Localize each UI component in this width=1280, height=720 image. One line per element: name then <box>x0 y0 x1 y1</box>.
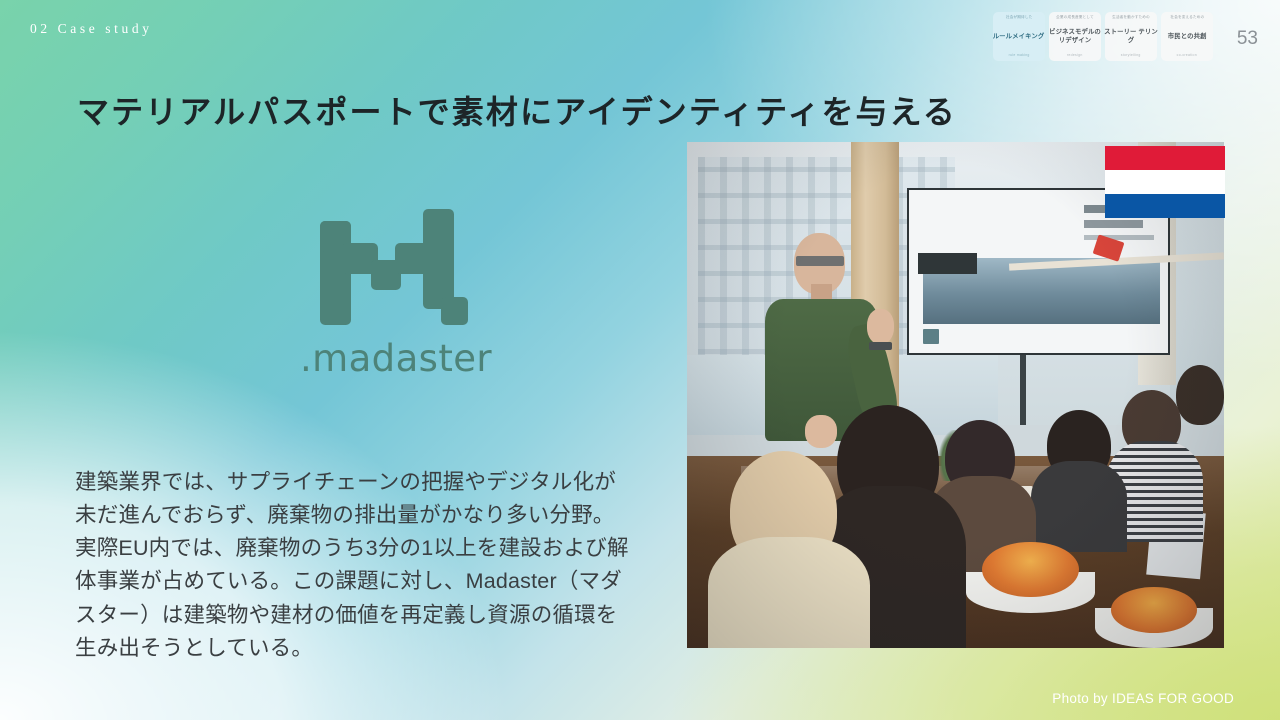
section-eyebrow: 02 Case study <box>30 21 153 37</box>
section-nav-chips: 社会が期待した ルールメイキング rule making 企業の成長産業として … <box>993 12 1213 61</box>
nav-chip-redesign[interactable]: 企業の成長産業として ビジネスモデルの リデザイン redesign <box>1049 12 1101 61</box>
nav-chip-english: storytelling <box>1121 54 1141 58</box>
nav-chip-subtitle: 生活者を動かすための <box>1112 16 1150 21</box>
body-paragraph: 建築業界では、サプライチェーンの把握やデジタル化が未だ進んでおらず、廃棄物の排出… <box>75 466 630 666</box>
nav-chip-title: ビジネスモデルの リデザイン <box>1046 29 1104 46</box>
nav-chip-english: co-creation <box>1177 54 1197 58</box>
nav-chip-rule-making[interactable]: 社会が期待した ルールメイキング rule making <box>993 12 1045 61</box>
nav-chip-title: 市民との共創 <box>1168 33 1207 41</box>
page-number: 53 <box>1237 28 1258 50</box>
nav-chip-english: redesign <box>1067 54 1083 58</box>
nav-chip-subtitle: 社会が期待した <box>1006 16 1032 21</box>
page-title: マテリアルパスポートで素材にアイデンティティを与える <box>77 87 957 133</box>
photo-credit: Photo by IDEAS FOR GOOD <box>1052 691 1234 706</box>
madaster-m-mark-icon <box>312 205 468 325</box>
madaster-logo: .madaster <box>300 205 480 380</box>
nav-chip-subtitle: 社会を変えるための <box>1170 16 1204 21</box>
nav-chip-title: ルールメイキング <box>993 33 1045 41</box>
madaster-wordmark: .madaster <box>300 337 480 380</box>
netherlands-flag-icon <box>1105 146 1225 218</box>
nav-chip-storytelling[interactable]: 生活者を動かすための ストーリー テリング storytelling <box>1105 12 1157 61</box>
nav-chip-subtitle: 企業の成長産業として <box>1056 16 1094 21</box>
slide-canvas: 02 Case study 社会が期待した ルールメイキング rule maki… <box>0 0 1280 720</box>
nav-chip-title: ストーリー テリング <box>1102 29 1160 46</box>
nav-chip-co-creation[interactable]: 社会を変えるための 市民との共創 co-creation <box>1161 12 1213 61</box>
nav-chip-english: rule making <box>1008 54 1029 58</box>
